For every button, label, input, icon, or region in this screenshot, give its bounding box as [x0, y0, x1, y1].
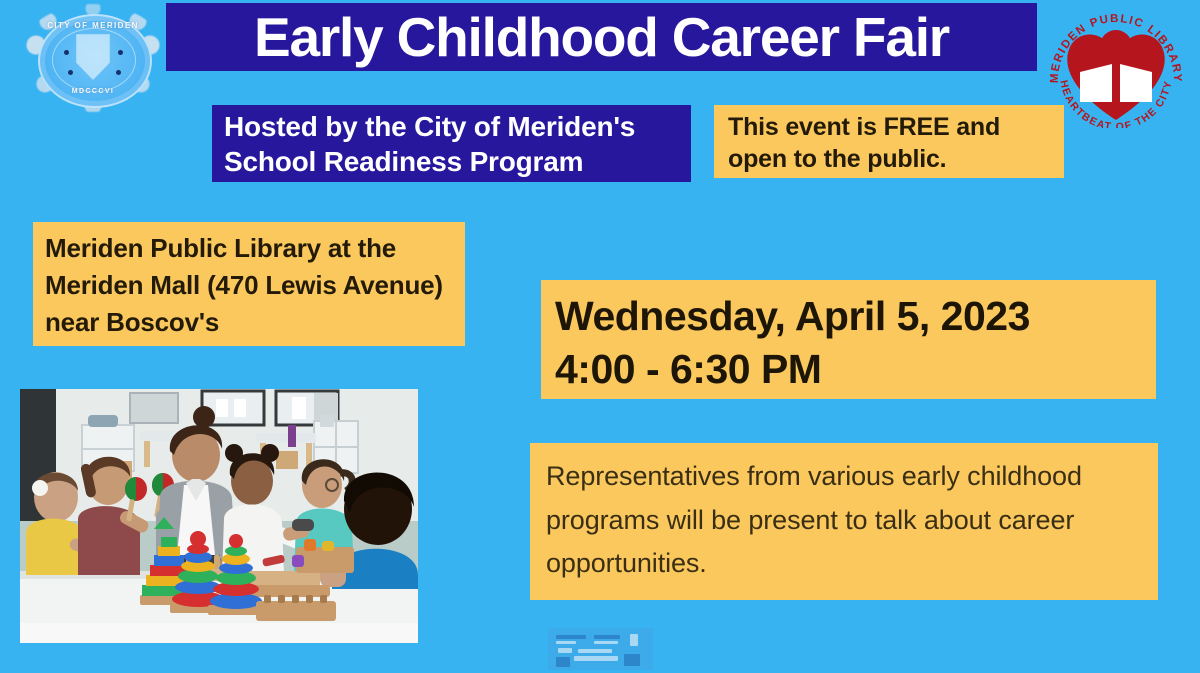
seal-bottom-text: MDCCCVI: [18, 88, 168, 95]
classroom-photo: [20, 389, 418, 643]
free-event-box: This event is FREE and open to the publi…: [714, 105, 1064, 178]
seal-dot: [64, 50, 69, 55]
date-time-box: Wednesday, April 5, 2023 4:00 - 6:30 PM: [541, 280, 1156, 399]
representatives-text: Representatives from various early child…: [546, 455, 1146, 586]
hosted-by-text: Hosted by the City of Meriden's School R…: [224, 110, 681, 179]
location-box: Meriden Public Library at the Meriden Ma…: [33, 222, 465, 346]
representatives-box: Representatives from various early child…: [530, 443, 1158, 600]
event-time: 4:00 - 6:30 PM: [555, 343, 1146, 396]
seal-dot: [118, 50, 123, 55]
seal-dot: [68, 70, 73, 75]
free-event-text: This event is FREE and open to the publi…: [728, 111, 1054, 175]
hosted-by-box: Hosted by the City of Meriden's School R…: [212, 105, 691, 182]
event-date: Wednesday, April 5, 2023: [555, 290, 1146, 343]
seal-top-text: CITY OF MERIDEN: [18, 21, 168, 30]
seal-dot: [116, 70, 121, 75]
bottom-flyer-thumbnail: [548, 628, 653, 670]
poster-title-banner: Early Childhood Career Fair: [166, 3, 1037, 71]
page-title: Early Childhood Career Fair: [254, 10, 949, 65]
location-text: Meriden Public Library at the Meriden Ma…: [45, 230, 457, 341]
city-seal-icon: CITY OF MERIDEN MDCCCVI: [18, 4, 168, 112]
poster-canvas: CITY OF MERIDEN MDCCCVI Early Childhood …: [0, 0, 1200, 673]
